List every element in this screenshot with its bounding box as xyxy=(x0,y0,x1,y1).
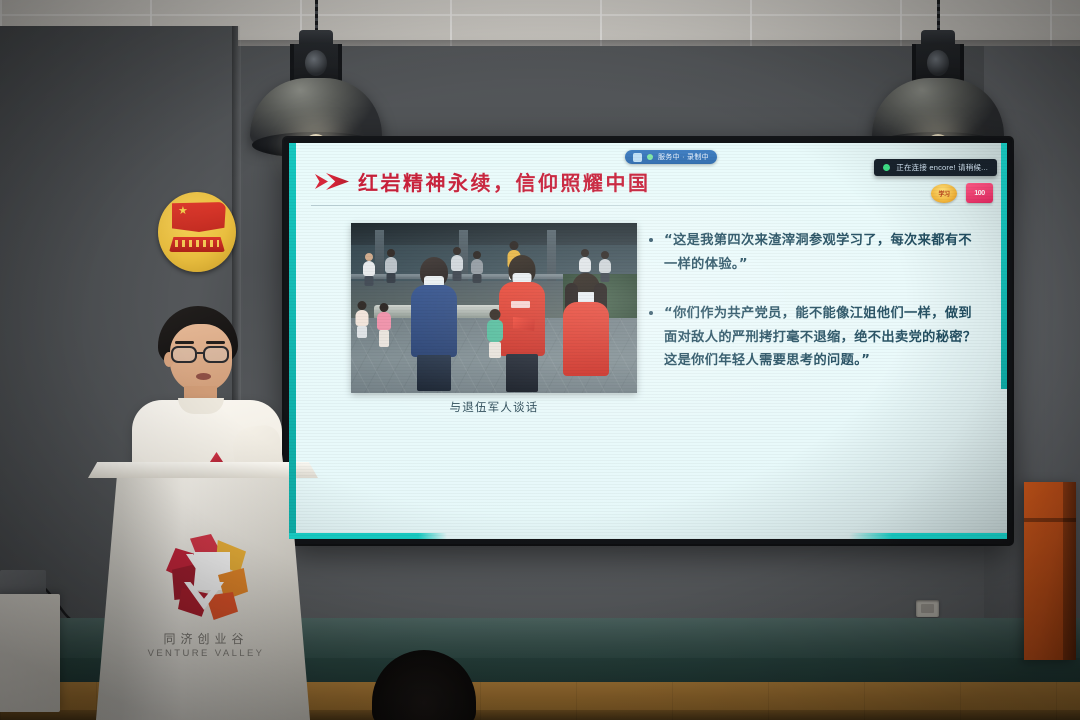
slide-divider xyxy=(311,205,993,206)
slide-accent-top-right xyxy=(1001,143,1007,389)
bullet-item: “这是我第四次来渣滓洞参观学习了，每次来都有不一样的体验。” xyxy=(649,229,981,276)
bullet-dot-icon xyxy=(649,238,653,242)
photo-caption: 与退伍军人谈话 xyxy=(351,399,637,415)
slide-bullet-list: “这是我第四次来渣滓洞参观学习了，每次来都有不一样的体验。” “你们作为共产党员… xyxy=(649,229,981,399)
screen-toast[interactable]: 正在连接 encore! 请稍候... xyxy=(874,159,997,176)
bullet-text: “你们作为共产党员，能不能像江姐他们一样，做到面对敌人的严刑拷打毫不退缩，绝不出… xyxy=(664,302,981,373)
screen-status-pill[interactable]: 服务中 · 录制中 xyxy=(625,150,717,164)
slide-title-row: 红岩精神永续，信仰照耀中国 xyxy=(315,167,651,196)
slide-title: 红岩精神永续，信仰照耀中国 xyxy=(358,167,651,196)
badge-round-label: 学习 xyxy=(938,189,949,198)
badge-round-yellow-icon[interactable]: 学习 xyxy=(931,184,957,203)
status-dot-icon xyxy=(647,154,653,160)
slide-accent-bottom xyxy=(289,533,1007,539)
status-square-icon xyxy=(633,153,642,162)
lecture-hall-scene: ★ 红岩精神永续，信仰照耀中国 xyxy=(0,0,1080,720)
bullet-dot-icon xyxy=(649,311,653,315)
slide-accent-left xyxy=(289,143,296,539)
bullet-text: “这是我第四次来渣滓洞参观学习了，每次来都有不一样的体验。” xyxy=(664,229,981,276)
slide-photo-block: 与退伍军人谈话 xyxy=(351,223,637,393)
status-pill-label: 服务中 · 录制中 xyxy=(658,152,709,162)
bullet-item: “你们作为共产党员，能不能像江姐他们一样，做到面对敌人的严刑拷打毫不退缩，绝不出… xyxy=(649,302,981,373)
toast-status-dot-icon xyxy=(883,164,890,171)
display-screen[interactable]: 红岩精神永续，信仰照耀中国 xyxy=(289,143,1007,539)
screen-corner-badges: 学习 100 xyxy=(931,183,993,203)
toast-label: 正在连接 encore! 请稍候... xyxy=(896,162,988,173)
slide: 红岩精神永续，信仰照耀中国 xyxy=(289,143,1007,539)
conversation-with-veteran-photo xyxy=(351,223,637,393)
presentation-display[interactable]: 红岩精神永续，信仰照耀中国 xyxy=(284,138,1012,544)
photo-person-blue xyxy=(411,257,457,389)
badge-rect-label: 100 xyxy=(974,190,984,197)
photo-person-red-2 xyxy=(563,273,609,393)
badge-rect-pink-icon[interactable]: 100 xyxy=(966,183,993,203)
double-arrow-icon xyxy=(315,173,349,190)
